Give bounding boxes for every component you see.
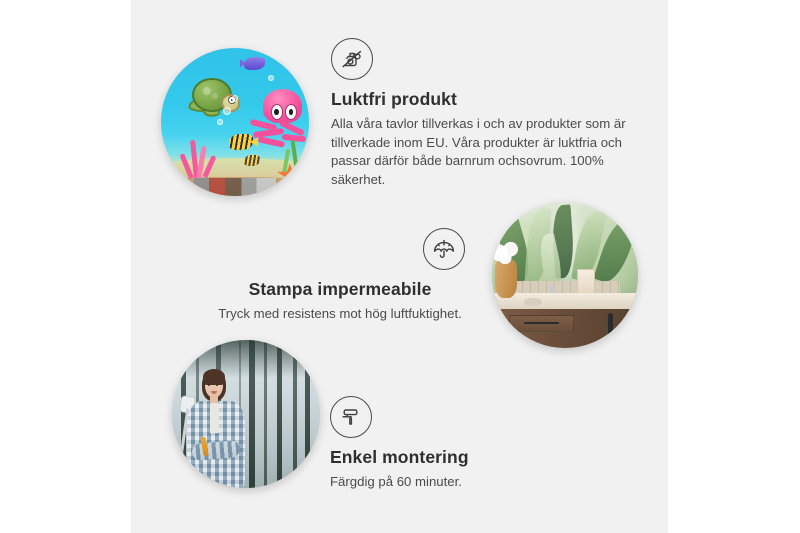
underwater-scene-art xyxy=(161,48,309,196)
feature-title: Luktfri produkt xyxy=(331,89,631,110)
feature-title: Enkel montering xyxy=(330,447,570,468)
hair-front xyxy=(203,369,225,385)
feature-description: Alla våra tavlor tillverkas i och av pro… xyxy=(331,115,631,189)
countertop xyxy=(492,293,638,311)
promo-infographic: Luktfri produkt Alla våra tavlor tillver… xyxy=(0,0,800,533)
forest-scene-art xyxy=(172,340,320,488)
bathroom-scene-art xyxy=(492,202,638,348)
vanity-drawer xyxy=(509,315,574,332)
octopus-arm xyxy=(257,136,285,147)
feature-title: Stampa impermeabile xyxy=(215,279,465,300)
underwater-cartoon-photo xyxy=(161,48,309,196)
octopus-body xyxy=(263,89,302,123)
feature-description: Tryck med resistens mot hög luftfuktighe… xyxy=(215,305,465,324)
feature-description: Färgdig på 60 minuter. xyxy=(330,473,570,492)
umbrella-rain-icon xyxy=(423,228,465,270)
no-fragrance-spray-icon xyxy=(331,38,373,80)
bubble xyxy=(217,119,223,125)
sea-rocks xyxy=(194,178,277,196)
white-flowers xyxy=(492,237,524,266)
bathroom-botanical-wallpaper-photo xyxy=(492,202,638,348)
smile xyxy=(211,391,217,394)
paint-roller-icon xyxy=(330,396,372,438)
octopus-eye xyxy=(271,104,283,120)
purple-fish xyxy=(244,57,265,70)
tile-backsplash xyxy=(507,281,621,293)
octopus-arm xyxy=(253,128,284,138)
feature-waterproof: Stampa impermeabile Tryck med resistens … xyxy=(215,228,465,324)
feature-odorless: Luktfri produkt Alla våra tavlor tillver… xyxy=(331,38,631,189)
bubble xyxy=(268,75,274,81)
woman-with-paint-roller xyxy=(178,367,258,488)
installer-forest-wallpaper-photo xyxy=(172,340,320,488)
wood-vanity-cabinet xyxy=(501,309,638,348)
inner-shirt xyxy=(210,402,220,434)
feature-mounting: Enkel montering Färgdig på 60 minuter. xyxy=(330,396,570,492)
soap-dish xyxy=(524,298,542,305)
butterfly-fish xyxy=(229,134,253,150)
cabinet-handle xyxy=(608,313,613,339)
pink-coral xyxy=(182,134,220,178)
octopus-illustration xyxy=(253,89,309,151)
feature-icon-row xyxy=(215,228,465,270)
